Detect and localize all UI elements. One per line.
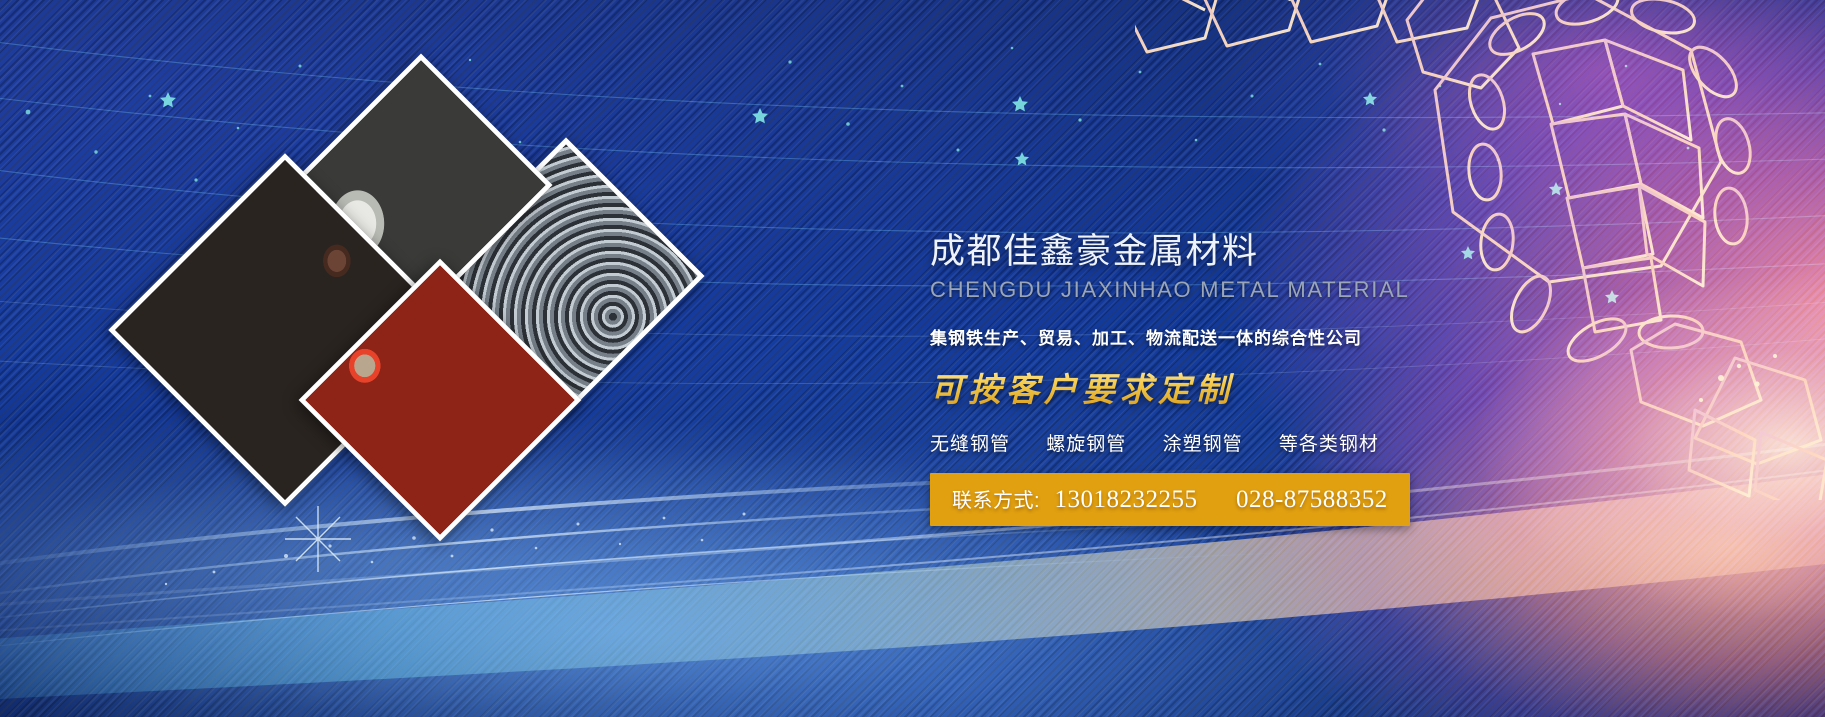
contact-info-bar[interactable]: 联系方式: 13018232255 028-87588352	[930, 473, 1410, 526]
company-title: 成都佳鑫豪金属材料	[930, 232, 1450, 271]
product-keyword: 螺旋钢管	[1046, 434, 1126, 455]
promo-banner: 成都佳鑫豪金属材料 CHENGDU JIAXINHAO METAL MATERI…	[0, 0, 1825, 717]
product-keyword-list: 无缝钢管 螺旋钢管 涂塑钢管 等各类钢材	[930, 429, 1450, 456]
customization-slogan: 可按客户要求定制	[930, 363, 1450, 411]
product-keyword: 涂塑钢管	[1163, 434, 1243, 455]
product-photo-collage	[150, 110, 790, 570]
product-keyword: 等各类钢材	[1279, 434, 1379, 455]
contact-phone-landline[interactable]: 028-87588352	[1236, 486, 1388, 513]
product-keyword: 无缝钢管	[930, 434, 1010, 455]
company-subtitle-english: CHENGDU JIAXINHAO METAL MATERIAL	[930, 277, 1450, 303]
contact-label: 联系方式:	[952, 490, 1040, 512]
contact-phone-mobile[interactable]: 13018232255	[1055, 486, 1198, 513]
banner-text-block: 成都佳鑫豪金属材料 CHENGDU JIAXINHAO METAL MATERI…	[930, 232, 1450, 526]
company-tagline: 集钢铁生产、贸易、加工、物流配送一体的综合性公司	[930, 324, 1450, 349]
